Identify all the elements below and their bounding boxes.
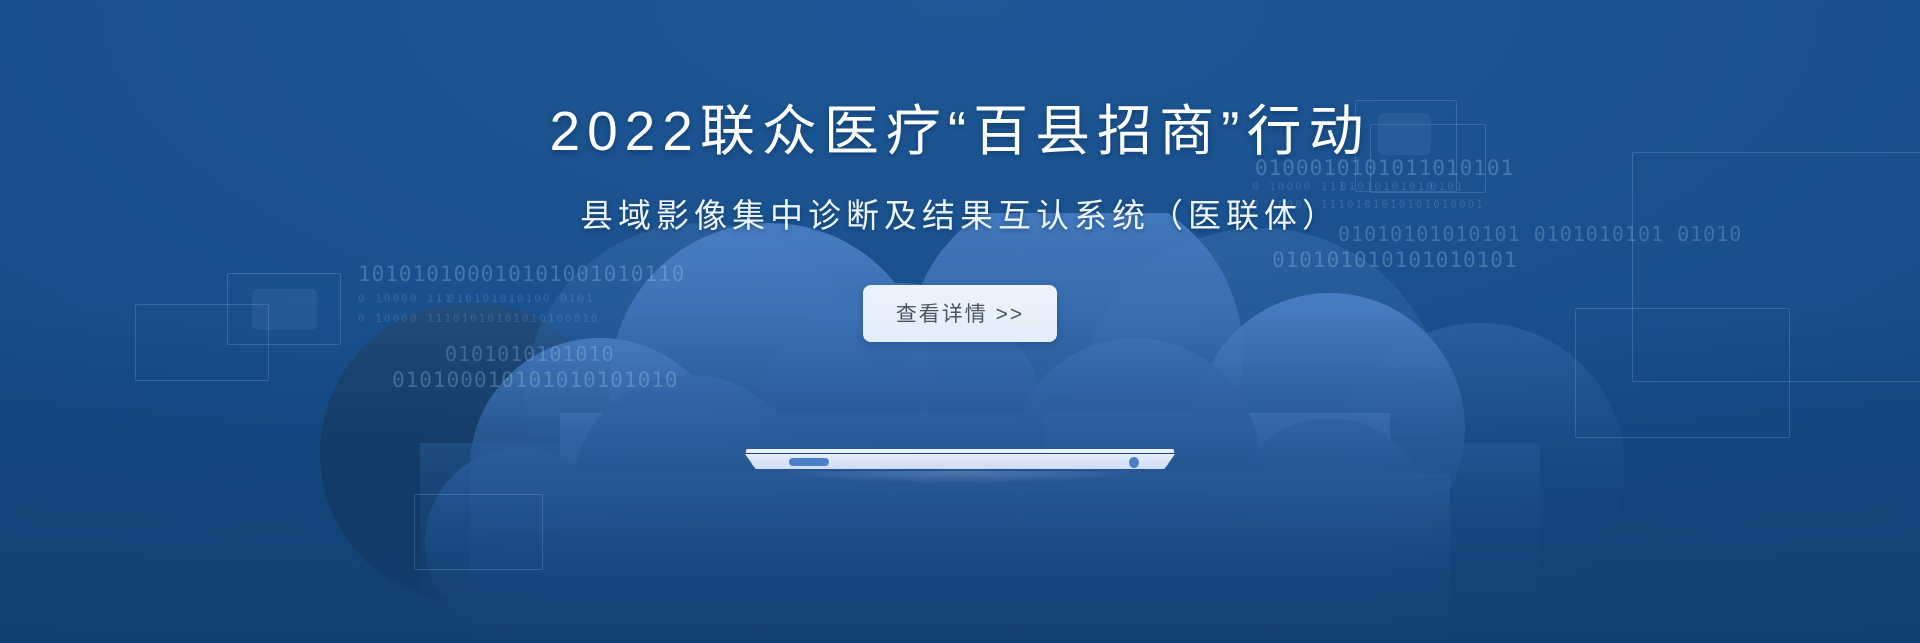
device-lid-edge [746,449,1174,453]
promo-banner: 101010100010101001010110 0 10000 111 010… [0,0,1920,643]
banner-title: 2022联众医疗“百县招商”行动 [550,103,1371,161]
banner-subtitle: 县域影像集中诊断及结果互认系统（医联体） [580,189,1340,237]
laptop-device-graphic [745,449,1175,475]
view-details-button[interactable]: 查看详情 >> [863,285,1057,342]
device-speaker-slot [789,458,829,466]
banner-content: 2022联众医疗“百县招商”行动 县域影像集中诊断及结果互认系统（医联体） 查看… [0,0,1920,643]
device-glow [777,471,1143,483]
device-status-dot [1129,457,1139,468]
